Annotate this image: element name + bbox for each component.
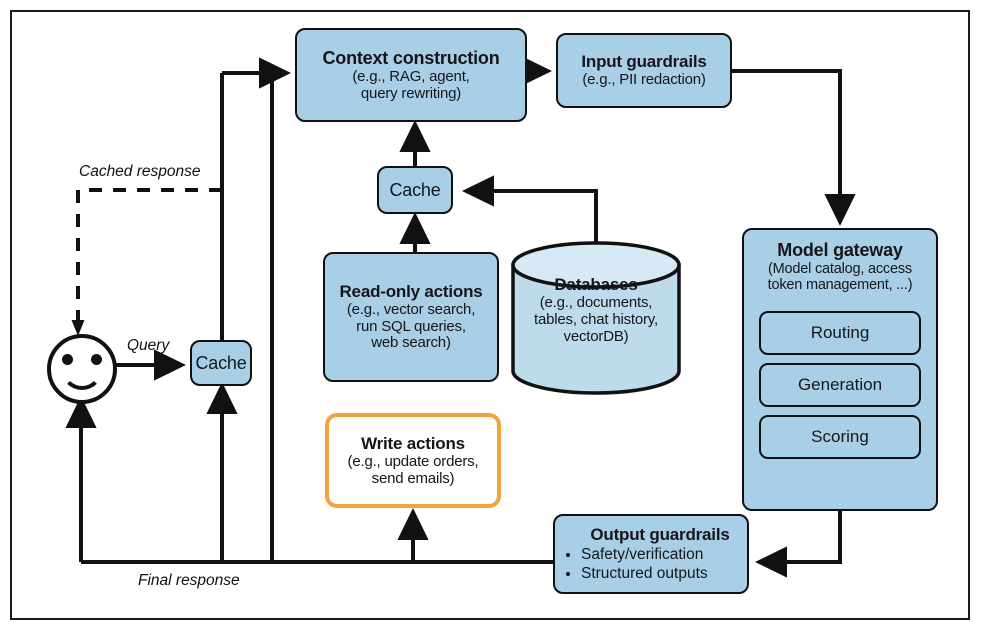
node-cache-query[interactable]: Cache bbox=[190, 340, 252, 386]
edge-label-cached-response: Cached response bbox=[79, 163, 201, 181]
node-input-guardrails[interactable]: Input guardrails (e.g., PII redaction) bbox=[556, 33, 732, 108]
node-databases[interactable]: Databases (e.g., documents, tables, chat… bbox=[511, 245, 681, 388]
subtitle-line: (e.g., vector search, bbox=[347, 302, 475, 319]
node-read-only-actions[interactable]: Read-only actions (e.g., vector search, … bbox=[323, 252, 499, 382]
subtitle-line: (e.g., update orders, bbox=[348, 454, 479, 471]
node-context-construction[interactable]: Context construction (e.g., RAG, agent, … bbox=[295, 28, 527, 122]
output-guardrails-bullets: Safety/verification Structured outputs bbox=[569, 546, 708, 583]
user-smiley-face-icon bbox=[47, 334, 117, 404]
node-title: Input guardrails bbox=[581, 52, 706, 71]
smiley-mouth-icon bbox=[61, 358, 103, 390]
node-subtitle: (e.g., RAG, agent, query rewriting) bbox=[352, 69, 469, 103]
subtitle-line: (e.g., PII redaction) bbox=[582, 72, 705, 89]
model-gateway-item-generation[interactable]: Generation bbox=[759, 363, 921, 407]
model-gateway-item-list: Routing Generation Scoring bbox=[759, 303, 921, 459]
node-title: Write actions bbox=[361, 434, 465, 453]
node-title: Context construction bbox=[322, 48, 499, 68]
subtitle-line: (e.g., documents, bbox=[534, 295, 658, 312]
node-subtitle: (e.g., documents, tables, chat history, … bbox=[534, 295, 658, 345]
model-gateway-item-scoring[interactable]: Scoring bbox=[759, 415, 921, 459]
subtitle-line: (Model catalog, access bbox=[768, 261, 913, 277]
node-subtitle: (e.g., update orders, send emails) bbox=[348, 454, 479, 488]
node-subtitle: (e.g., vector search, run SQL queries, w… bbox=[347, 302, 475, 352]
subtitle-line: query rewriting) bbox=[352, 86, 469, 103]
subtitle-line: run SQL queries, bbox=[347, 319, 475, 336]
bullet-item: Structured outputs bbox=[581, 565, 708, 583]
node-subtitle: (Model catalog, access token management,… bbox=[768, 261, 913, 293]
edge-label-final-response: Final response bbox=[138, 572, 240, 590]
node-title: Read-only actions bbox=[339, 282, 482, 301]
node-title: Cache bbox=[389, 180, 440, 200]
node-model-gateway[interactable]: Model gateway (Model catalog, access tok… bbox=[742, 228, 938, 511]
node-subtitle: (e.g., PII redaction) bbox=[582, 72, 705, 89]
databases-label-group: Databases (e.g., documents, tables, chat… bbox=[534, 275, 658, 345]
model-gateway-item-routing[interactable]: Routing bbox=[759, 311, 921, 355]
bullet-item: Safety/verification bbox=[581, 546, 708, 564]
node-title: Databases bbox=[534, 275, 658, 294]
edge-label-query: Query bbox=[127, 337, 169, 355]
subtitle-line: tables, chat history, bbox=[534, 312, 658, 329]
node-title: Output guardrails bbox=[569, 525, 751, 544]
node-write-actions[interactable]: Write actions (e.g., update orders, send… bbox=[325, 413, 501, 508]
diagram-canvas: Context construction (e.g., RAG, agent, … bbox=[0, 0, 982, 632]
node-cache-context[interactable]: Cache bbox=[377, 166, 453, 214]
node-title: Cache bbox=[195, 353, 246, 373]
node-output-guardrails[interactable]: Output guardrails Safety/verification St… bbox=[553, 514, 749, 594]
node-title: Model gateway bbox=[777, 240, 902, 260]
subtitle-line: vectorDB) bbox=[534, 329, 658, 346]
subtitle-line: (e.g., RAG, agent, bbox=[352, 69, 469, 86]
subtitle-line: web search) bbox=[347, 335, 475, 352]
subtitle-line: token management, ...) bbox=[768, 277, 913, 293]
subtitle-line: send emails) bbox=[348, 471, 479, 488]
